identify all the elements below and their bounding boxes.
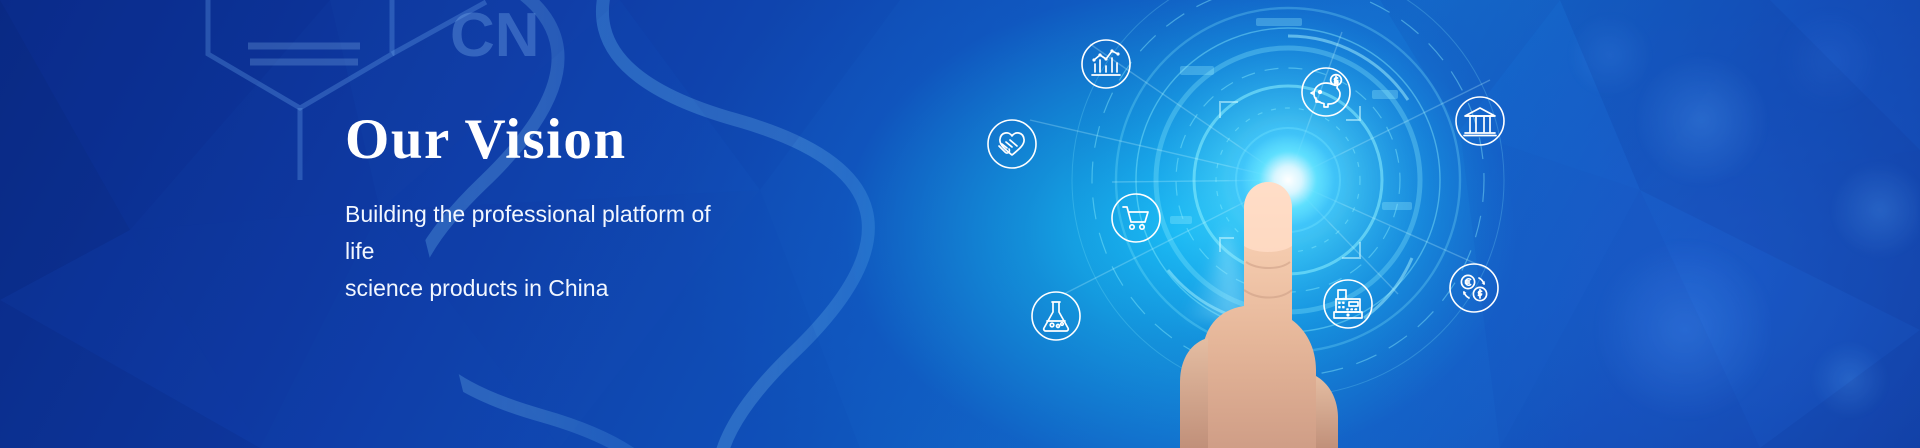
feature-icon-cluster — [0, 0, 1920, 448]
cash-register-icon[interactable] — [1322, 278, 1374, 330]
our-vision-hero-banner: CN — [0, 0, 1920, 448]
analytics-chart-icon[interactable] — [1080, 38, 1132, 90]
lab-flask-icon[interactable] — [1030, 290, 1082, 342]
shopping-cart-icon[interactable] — [1110, 192, 1162, 244]
currency-exchange-icon[interactable] — [1448, 262, 1500, 314]
handshake-heart-icon[interactable] — [986, 118, 1038, 170]
piggy-bank-icon[interactable] — [1300, 66, 1352, 118]
bank-building-icon[interactable] — [1454, 95, 1506, 147]
